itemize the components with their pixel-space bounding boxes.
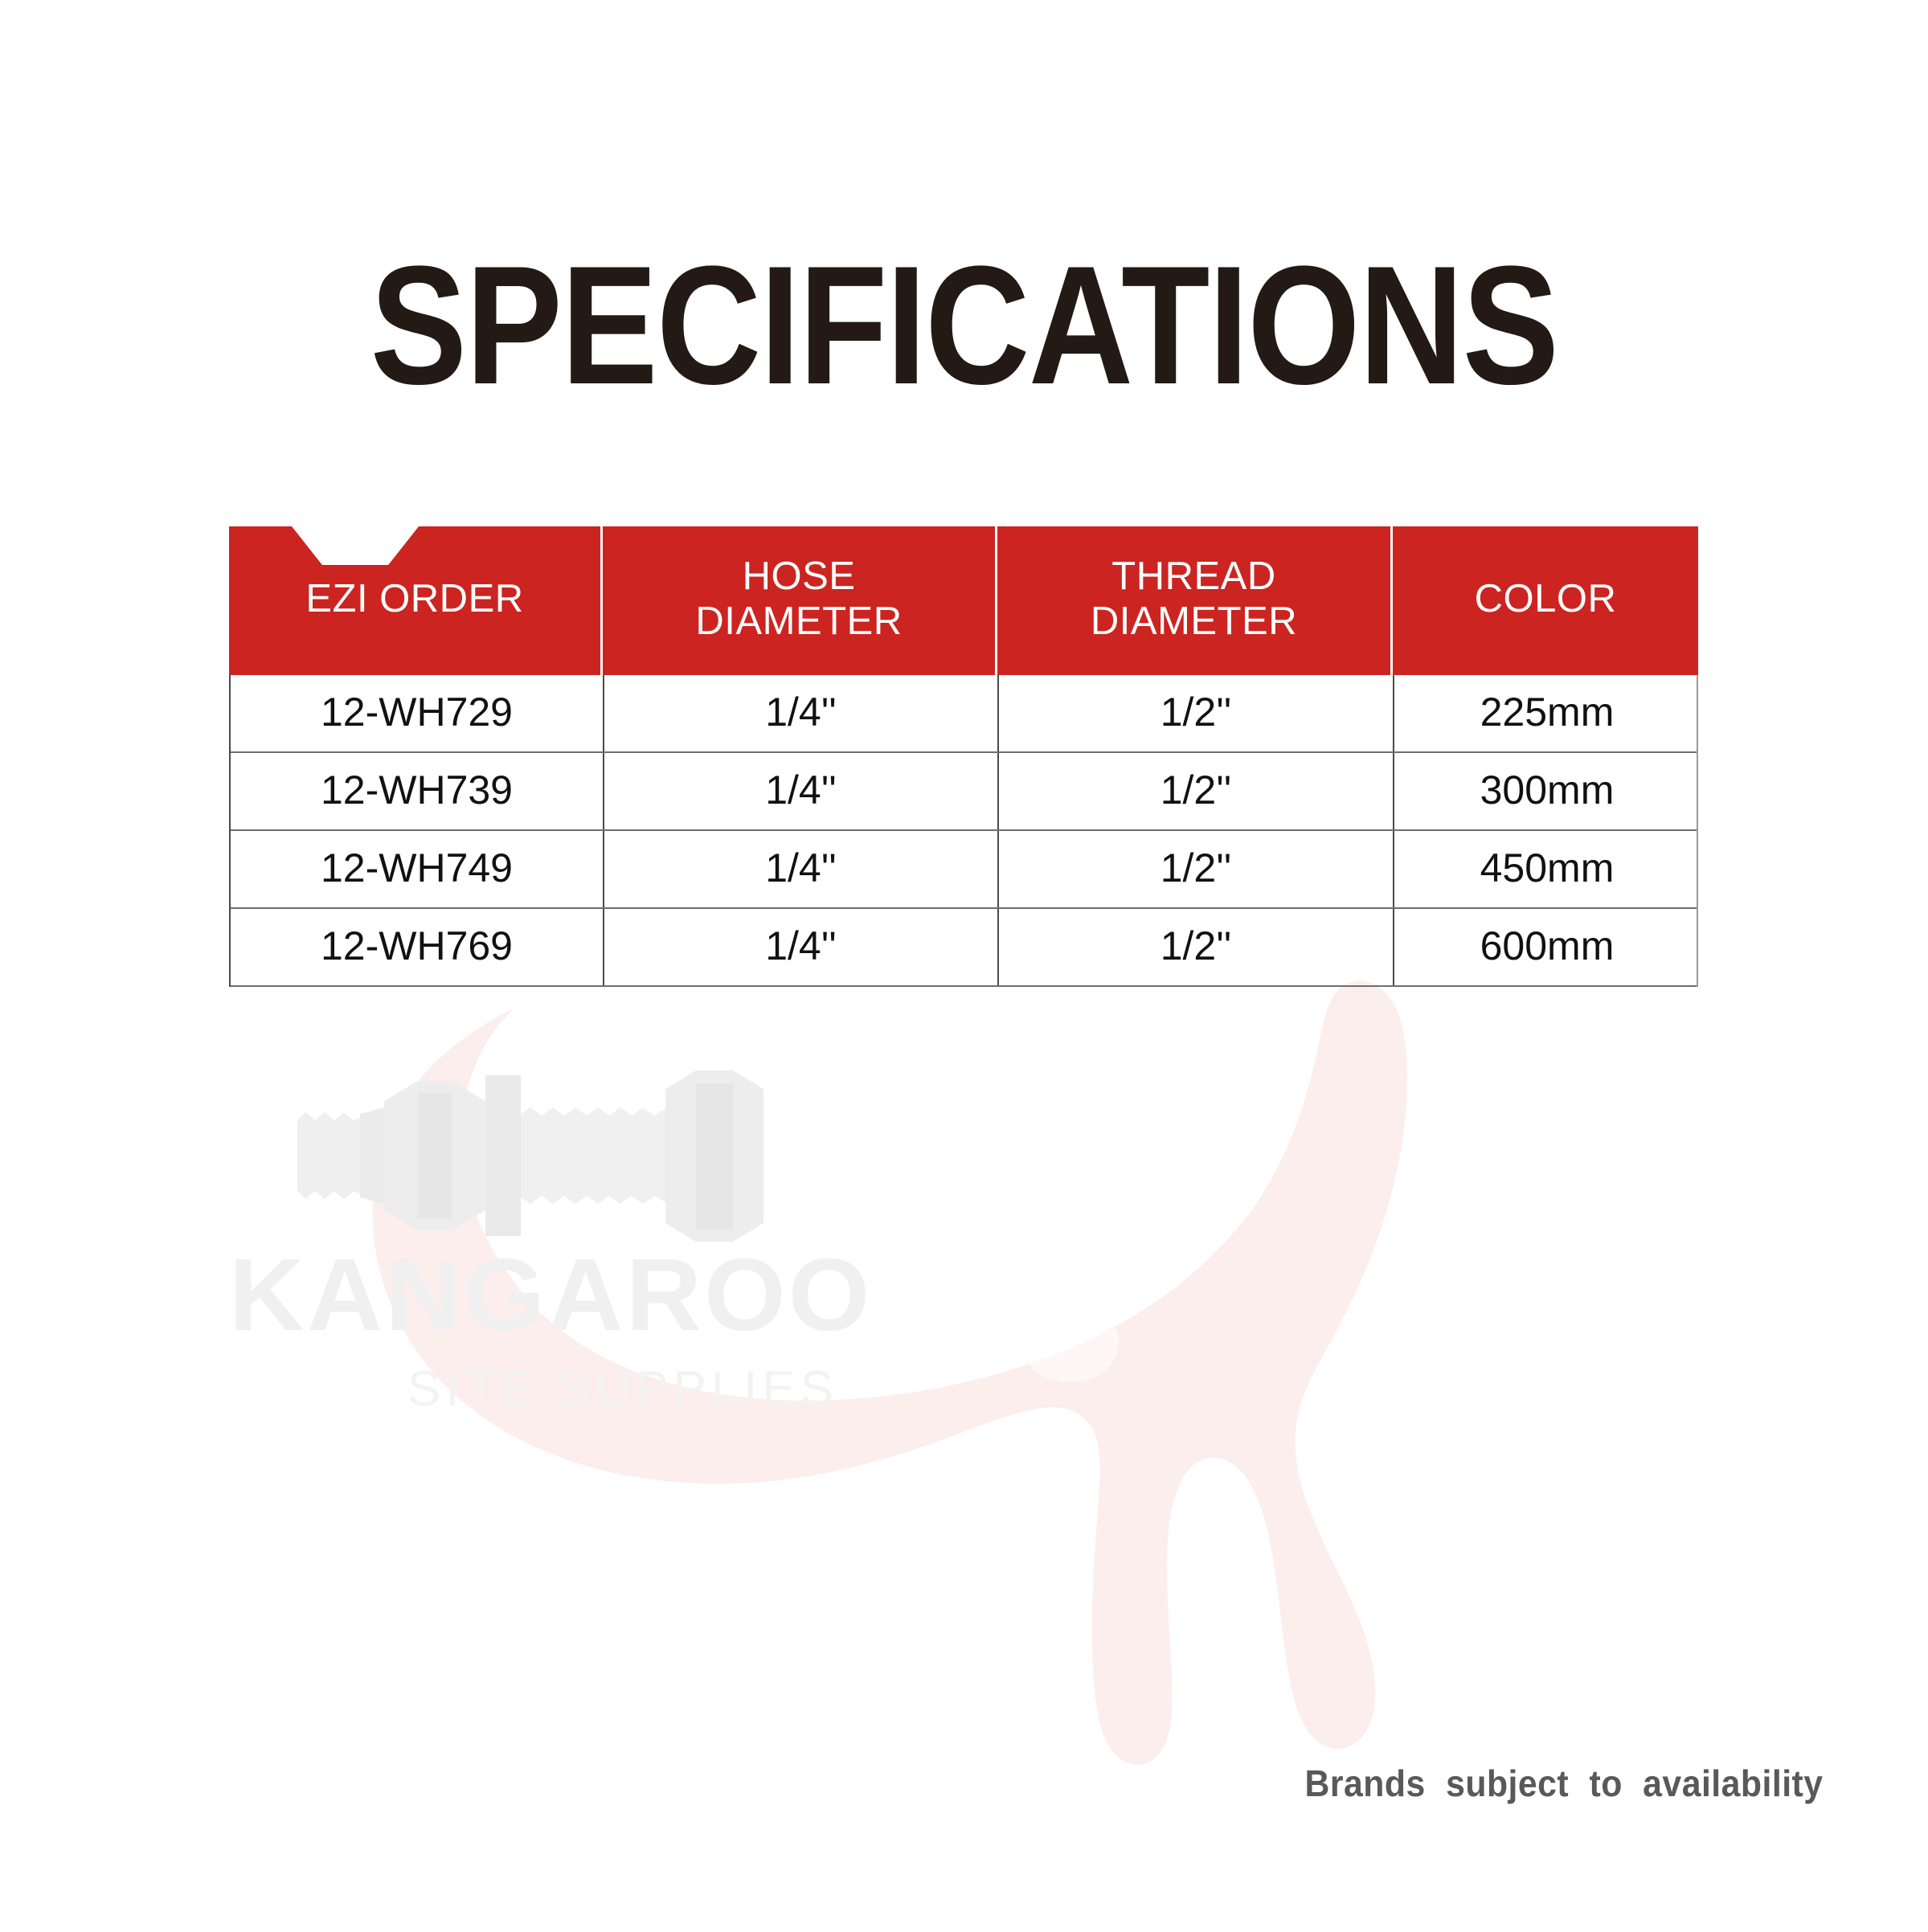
- cell-color: 600mm: [1394, 909, 1700, 985]
- table-body: 12-WH729 1/4'' 1/2'' 225mm 12-WH739 1/4'…: [229, 675, 1698, 987]
- cell-thread-diameter: 1/2'': [999, 753, 1394, 829]
- table-row: 12-WH729 1/4'' 1/2'' 225mm: [231, 675, 1697, 753]
- table-row: 12-WH749 1/4'' 1/2'' 450mm: [231, 831, 1697, 909]
- cell-thread-diameter: 1/2'': [999, 675, 1394, 751]
- table-header-hose-diameter: HOSE DIAMETER: [603, 526, 997, 675]
- table-header-color: COLOR: [1393, 526, 1698, 675]
- cell-hose-diameter: 1/4'': [604, 831, 999, 907]
- cell-hose-diameter: 1/4'': [604, 909, 999, 985]
- header-label-color: COLOR: [1475, 577, 1617, 621]
- cell-hose-diameter: 1/4'': [604, 675, 999, 751]
- cell-hose-diameter: 1/4'': [604, 753, 999, 829]
- kangaroo-silhouette-icon: [373, 980, 1407, 1765]
- table-row: 12-WH739 1/4'' 1/2'' 300mm: [231, 753, 1697, 831]
- header-label-thread-diameter: THREAD DIAMETER: [1091, 555, 1297, 644]
- header-label-hose-diameter: HOSE DIAMETER: [695, 555, 902, 644]
- logo-tagline-text: SITE SUPPLIES: [293, 1365, 952, 1414]
- footer-disclaimer: Brands subject to availability: [1305, 1762, 1824, 1805]
- hose-fitting-icon: [297, 1070, 763, 1242]
- cell-thread-diameter: 1/2'': [999, 831, 1394, 907]
- cell-thread-diameter: 1/2'': [999, 909, 1394, 985]
- cell-ezi-order: 12-WH769: [231, 909, 604, 985]
- cell-ezi-order: 12-WH749: [231, 831, 604, 907]
- header-label-ezi-order: EZI ORDER: [305, 577, 523, 621]
- page-title: SPECIFICATIONS: [135, 241, 1793, 410]
- table-header-ezi-order: EZI ORDER: [229, 526, 603, 675]
- cell-color: 300mm: [1394, 753, 1700, 829]
- header-label-thread-diameter-line2: DIAMETER: [1091, 600, 1297, 643]
- table-row: 12-WH769 1/4'' 1/2'' 600mm: [231, 909, 1697, 987]
- cell-color: 450mm: [1394, 831, 1700, 907]
- logo-wordmark-text: KANGAROO: [141, 1244, 960, 1347]
- cell-ezi-order: 12-WH739: [231, 753, 604, 829]
- header-label-hose-diameter-line2: DIAMETER: [695, 600, 902, 643]
- header-label-thread-diameter-line1: THREAD: [1111, 555, 1275, 598]
- cell-ezi-order: 12-WH729: [231, 675, 604, 751]
- table-header-thread-diameter: THREAD DIAMETER: [997, 526, 1393, 675]
- cell-color: 225mm: [1394, 675, 1700, 751]
- header-label-hose-diameter-line1: HOSE: [743, 555, 856, 598]
- table-header-row: EZI ORDER HOSE DIAMETER THREAD DIAMETER …: [229, 526, 1698, 675]
- specifications-table: EZI ORDER HOSE DIAMETER THREAD DIAMETER …: [229, 526, 1698, 987]
- logo-watermark: KANGAROO SITE SUPPLIES: [149, 1244, 952, 1414]
